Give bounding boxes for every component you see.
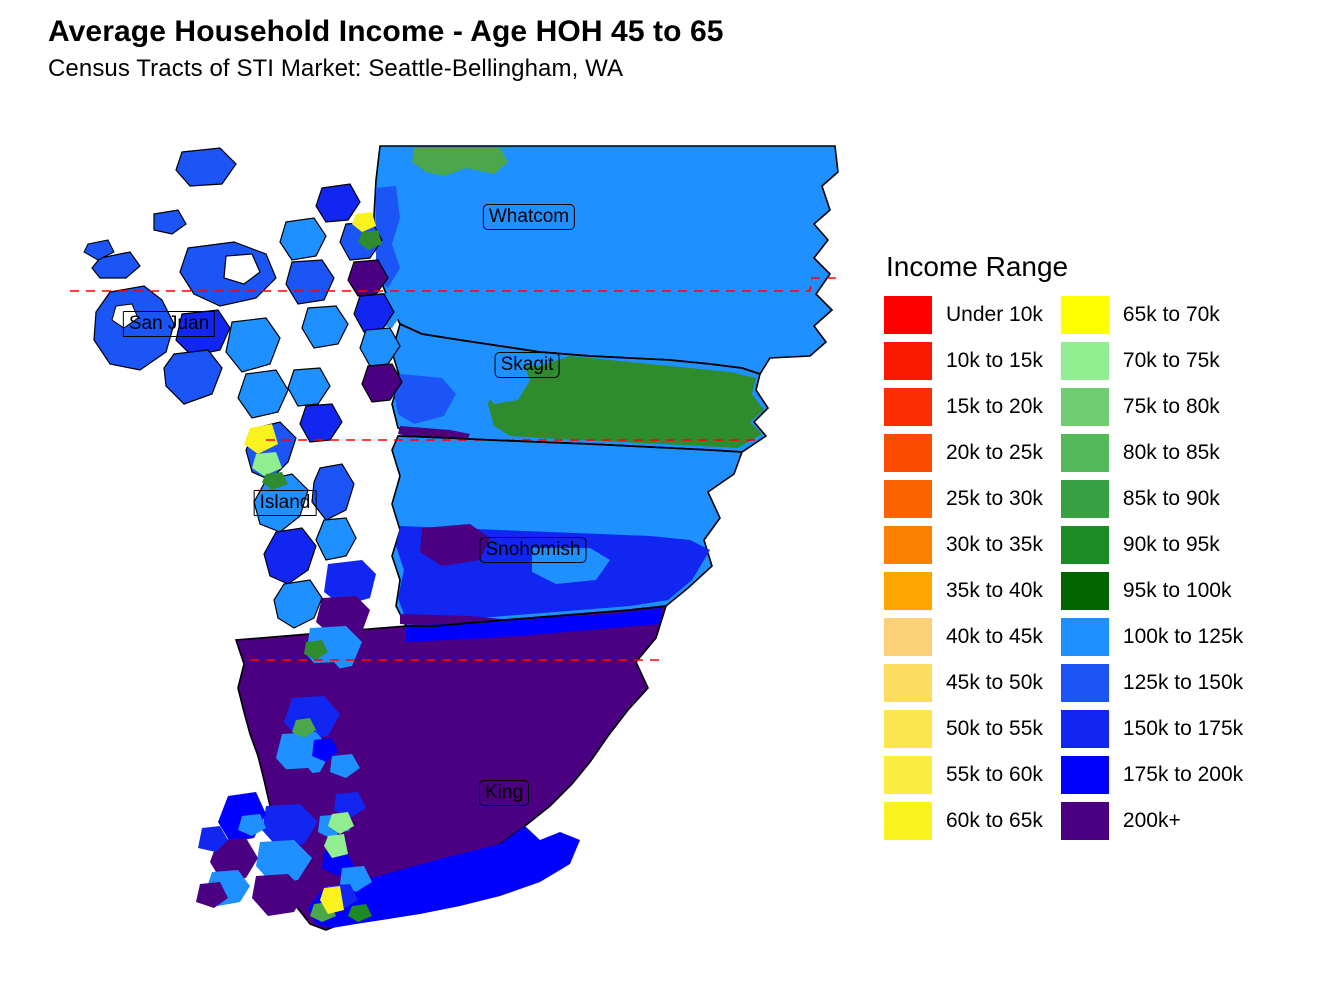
legend-label: 175k to 200k bbox=[1123, 763, 1243, 787]
county-label-snohomish: Snohomish bbox=[479, 537, 586, 563]
map-page: Average Household Income - Age HOH 45 to… bbox=[0, 0, 1344, 1008]
legend-item-70k-to-75k[interactable]: 70k to 75k bbox=[1061, 342, 1243, 380]
legend-item-65k-to-70k[interactable]: 65k to 70k bbox=[1061, 296, 1243, 334]
legend-item-125k-to-150k[interactable]: 125k to 150k bbox=[1061, 664, 1243, 702]
legend-label: 30k to 35k bbox=[946, 533, 1043, 557]
legend-swatch bbox=[1061, 434, 1109, 472]
legend-swatch bbox=[1061, 710, 1109, 748]
legend-swatch bbox=[1061, 296, 1109, 334]
legend-item-20k-to-25k[interactable]: 20k to 25k bbox=[884, 434, 1043, 472]
choropleth-map[interactable]: Whatcom Skagit San Juan Island Snohomish… bbox=[70, 128, 860, 958]
legend-swatch bbox=[884, 296, 932, 334]
legend-swatch bbox=[1061, 756, 1109, 794]
legend-label: 25k to 30k bbox=[946, 487, 1043, 511]
map-svg bbox=[70, 128, 860, 958]
legend-swatch bbox=[884, 572, 932, 610]
legend-label: 80k to 85k bbox=[1123, 441, 1220, 465]
legend-swatch bbox=[884, 802, 932, 840]
legend-item-90k-to-95k[interactable]: 90k to 95k bbox=[1061, 526, 1243, 564]
legend-swatch bbox=[1061, 802, 1109, 840]
legend-item-25k-to-30k[interactable]: 25k to 30k bbox=[884, 480, 1043, 518]
county-label-skagit: Skagit bbox=[495, 352, 560, 378]
legend-label: 65k to 70k bbox=[1123, 303, 1220, 327]
legend-label: 95k to 100k bbox=[1123, 579, 1232, 603]
legend-item-15k-to-20k[interactable]: 15k to 20k bbox=[884, 388, 1043, 426]
legend-item-100k-to-125k[interactable]: 100k to 125k bbox=[1061, 618, 1243, 656]
legend-label: 35k to 40k bbox=[946, 579, 1043, 603]
legend-swatch bbox=[884, 664, 932, 702]
legend-swatch bbox=[1061, 618, 1109, 656]
legend-column-right: 65k to 70k70k to 75k75k to 80k80k to 85k… bbox=[1061, 296, 1243, 840]
legend-label: 15k to 20k bbox=[946, 395, 1043, 419]
county-label-king: King bbox=[479, 780, 529, 806]
legend-label: 100k to 125k bbox=[1123, 625, 1243, 649]
legend-swatch bbox=[884, 434, 932, 472]
legend-label: 70k to 75k bbox=[1123, 349, 1220, 373]
legend-item-80k-to-85k[interactable]: 80k to 85k bbox=[1061, 434, 1243, 472]
legend-label: 40k to 45k bbox=[946, 625, 1043, 649]
legend-label: 20k to 25k bbox=[946, 441, 1043, 465]
legend-item-45k-to-50k[interactable]: 45k to 50k bbox=[884, 664, 1043, 702]
legend-swatch bbox=[1061, 572, 1109, 610]
legend-item-55k-to-60k[interactable]: 55k to 60k bbox=[884, 756, 1043, 794]
legend: Income Range Under 10k10k to 15k15k to 2… bbox=[884, 250, 1314, 840]
legend-item-10k-to-15k[interactable]: 10k to 15k bbox=[884, 342, 1043, 380]
legend-label: 125k to 150k bbox=[1123, 671, 1243, 695]
legend-item-60k-to-65k[interactable]: 60k to 65k bbox=[884, 802, 1043, 840]
page-subtitle: Census Tracts of STI Market: Seattle-Bel… bbox=[48, 52, 724, 86]
legend-label: 55k to 60k bbox=[946, 763, 1043, 787]
legend-item-95k-to-100k[interactable]: 95k to 100k bbox=[1061, 572, 1243, 610]
legend-label: 200k+ bbox=[1123, 809, 1181, 833]
legend-title: Income Range bbox=[886, 250, 1314, 284]
legend-swatch bbox=[884, 618, 932, 656]
legend-label: 90k to 95k bbox=[1123, 533, 1220, 557]
legend-item-under-10k[interactable]: Under 10k bbox=[884, 296, 1043, 334]
legend-swatch bbox=[884, 526, 932, 564]
legend-label: Under 10k bbox=[946, 303, 1043, 327]
legend-label: 75k to 80k bbox=[1123, 395, 1220, 419]
legend-item-40k-to-45k[interactable]: 40k to 45k bbox=[884, 618, 1043, 656]
legend-swatch bbox=[1061, 480, 1109, 518]
county-label-whatcom: Whatcom bbox=[483, 204, 575, 230]
county-label-island: Island bbox=[254, 490, 317, 516]
legend-swatch bbox=[1061, 342, 1109, 380]
county-label-san-juan: San Juan bbox=[123, 311, 215, 337]
legend-swatch bbox=[1061, 388, 1109, 426]
legend-swatch bbox=[884, 388, 932, 426]
legend-item-85k-to-90k[interactable]: 85k to 90k bbox=[1061, 480, 1243, 518]
legend-label: 50k to 55k bbox=[946, 717, 1043, 741]
legend-label: 150k to 175k bbox=[1123, 717, 1243, 741]
title-block: Average Household Income - Age HOH 45 to… bbox=[48, 12, 724, 86]
legend-item-200k[interactable]: 200k+ bbox=[1061, 802, 1243, 840]
legend-item-35k-to-40k[interactable]: 35k to 40k bbox=[884, 572, 1043, 610]
legend-item-30k-to-35k[interactable]: 30k to 35k bbox=[884, 526, 1043, 564]
legend-item-50k-to-55k[interactable]: 50k to 55k bbox=[884, 710, 1043, 748]
legend-label: 60k to 65k bbox=[946, 809, 1043, 833]
legend-label: 10k to 15k bbox=[946, 349, 1043, 373]
legend-swatch bbox=[884, 756, 932, 794]
legend-column-left: Under 10k10k to 15k15k to 20k20k to 25k2… bbox=[884, 296, 1043, 840]
legend-label: 45k to 50k bbox=[946, 671, 1043, 695]
legend-item-150k-to-175k[interactable]: 150k to 175k bbox=[1061, 710, 1243, 748]
legend-label: 85k to 90k bbox=[1123, 487, 1220, 511]
legend-item-75k-to-80k[interactable]: 75k to 80k bbox=[1061, 388, 1243, 426]
legend-swatch bbox=[884, 342, 932, 380]
legend-item-175k-to-200k[interactable]: 175k to 200k bbox=[1061, 756, 1243, 794]
page-title: Average Household Income - Age HOH 45 to… bbox=[48, 12, 724, 52]
legend-swatch bbox=[884, 710, 932, 748]
legend-swatch bbox=[884, 480, 932, 518]
legend-swatch bbox=[1061, 526, 1109, 564]
legend-swatch bbox=[1061, 664, 1109, 702]
